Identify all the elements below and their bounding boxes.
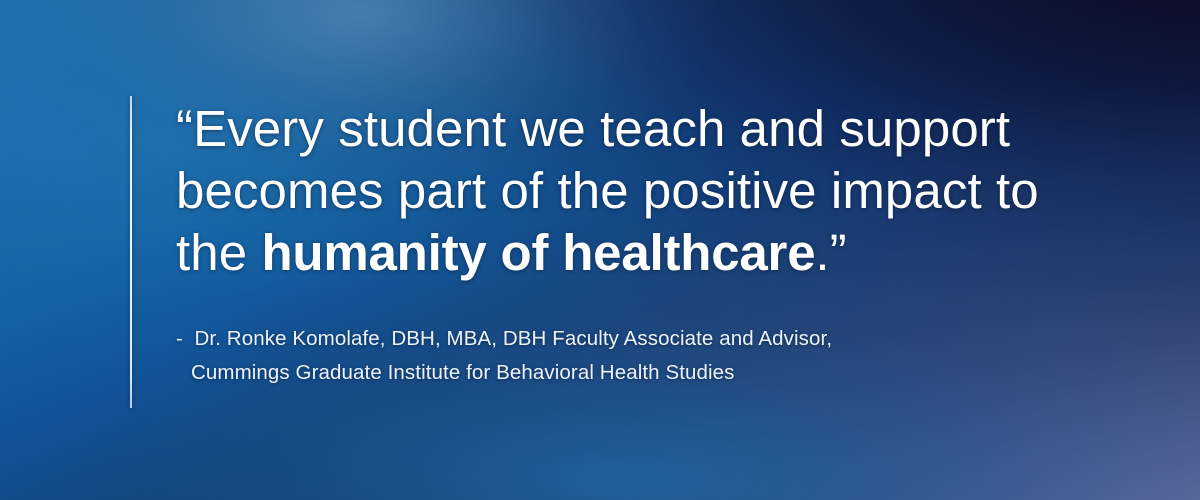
vertical-rule-divider-icon	[130, 96, 132, 408]
quote-line-3-lead: the	[176, 224, 261, 281]
quote-banner: “Every student we teach and support beco…	[0, 0, 1200, 500]
quote-line-2: becomes part of the positive impact to	[176, 160, 1076, 222]
quote-content: “Every student we teach and support beco…	[176, 98, 1076, 390]
quote-attribution: - Dr. Ronke Komolafe, DBH, MBA, DBH Facu…	[176, 284, 1076, 390]
quote-emphasized-phrase: humanity of healthcare	[261, 224, 815, 281]
attribution-line-1: - Dr. Ronke Komolafe, DBH, MBA, DBH Facu…	[176, 322, 1076, 356]
quote-line-1-text: “Every student we teach and support	[176, 100, 1010, 157]
quote-line-2-text: becomes part of the positive impact to	[176, 162, 1039, 219]
pull-quote: “Every student we teach and support beco…	[176, 98, 1076, 284]
attribution-line-2: Cummings Graduate Institute for Behavior…	[176, 356, 1076, 390]
quote-line-1: “Every student we teach and support	[176, 98, 1076, 160]
quote-closing-punctuation: .”	[815, 224, 846, 281]
quote-line-3: the humanity of healthcare.”	[176, 222, 1076, 284]
